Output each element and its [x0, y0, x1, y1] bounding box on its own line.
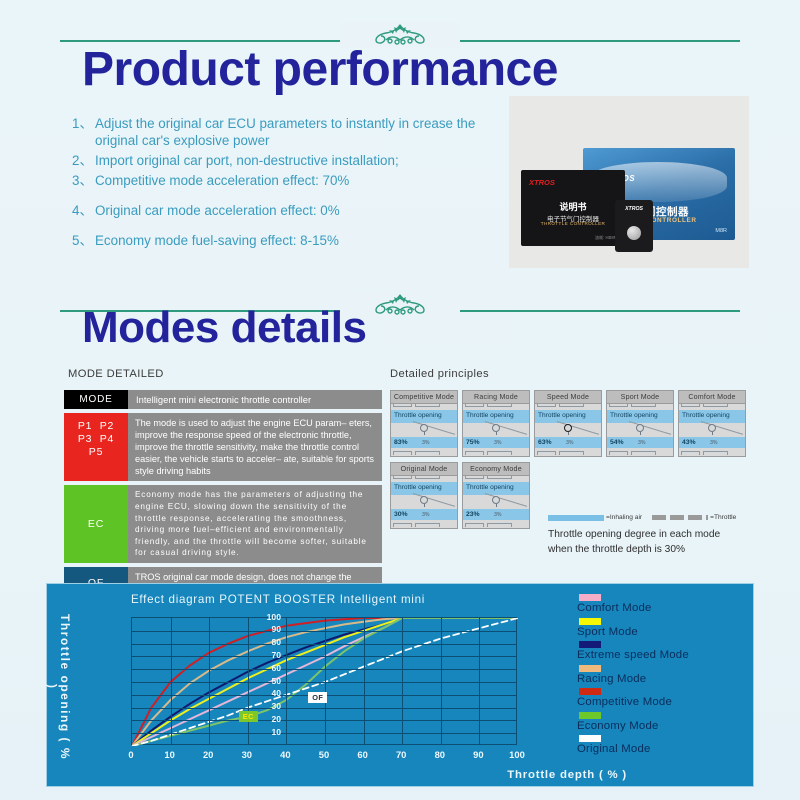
list-item-label: Adjust the original car ECU parameters t… [95, 115, 502, 149]
gridline-horizontal [132, 644, 516, 645]
y-tick-label: 70 [253, 650, 281, 660]
y-tick-label: 10 [253, 727, 281, 737]
y-tick-label: 30 [253, 701, 281, 711]
list-item: 5、 Economy mode fuel-saving effect: 8-15… [72, 232, 502, 249]
manual-cn-title: 说明书 [521, 200, 625, 213]
x-tick-label: 80 [428, 749, 452, 760]
mode-principle-card: Economy ModeThrottle opening23%3% [462, 462, 530, 529]
list-item-number: 1、 [72, 115, 95, 149]
device-knob-icon [627, 226, 641, 240]
gridline-horizontal [132, 669, 516, 670]
legend-item: Economy Mode [577, 712, 689, 732]
card-top-brackets-icon [609, 403, 671, 408]
gridline-vertical [171, 618, 172, 744]
legend-swatch [579, 665, 601, 672]
manual-en-title: THROTTLE CONTROLLER [521, 221, 625, 226]
y-tick-label: 40 [253, 688, 281, 698]
card-diagram: Throttle opening75%3% [462, 403, 530, 457]
card-diagram: Throttle opening54%3% [606, 403, 674, 457]
x-tick-label: 20 [196, 749, 220, 760]
card-top-brackets-icon [393, 475, 455, 480]
card-bottom-brackets-icon [609, 450, 671, 455]
legend-item: Original Mode [577, 735, 689, 755]
legend-swatch [579, 618, 601, 625]
x-tick-label: 60 [351, 749, 375, 760]
throttle-swatch [652, 515, 708, 520]
list-item-number: 2、 [72, 152, 95, 169]
gridline-horizontal [132, 708, 516, 709]
chart-x-axis-label: Throttle depth ( % ) [507, 769, 627, 781]
chart-title: Effect diagram POTENT BOOSTER Intelligen… [131, 593, 425, 606]
card-diagram: Throttle opening43%3% [678, 403, 746, 457]
card-bottom-brackets-icon [465, 450, 527, 455]
list-item-label: Competitive mode acceleration effect: 70… [95, 172, 502, 189]
mode-card-row-1: Competitive ModeThrottle opening83%3%Rac… [390, 390, 746, 457]
performance-list: 1、 Adjust the original car ECU parameter… [72, 115, 502, 252]
chart-plot-area [131, 617, 517, 745]
gridline-vertical [248, 618, 249, 744]
infographic-page: Product performance 1、 Adjust the origin… [0, 0, 800, 800]
throttle-label: =Throttle [710, 514, 736, 521]
x-tick-label: 10 [158, 749, 182, 760]
card-pct-label: 43% [682, 439, 696, 446]
y-tick-label: 80 [253, 637, 281, 647]
card-depth-label: 3% [638, 440, 646, 446]
list-item: 4、 Original car mode acceleration effect… [72, 202, 502, 219]
gridline-vertical [325, 618, 326, 744]
card-band-label: Throttle opening [466, 412, 514, 419]
gridline-vertical [402, 618, 403, 744]
row-value: Intelligent mini electronic throttle con… [128, 390, 382, 409]
legend-item: Extreme speed Mode [577, 641, 689, 661]
card-depth-label: 3% [422, 440, 430, 446]
chart-legend: Comfort ModeSport ModeExtreme speed Mode… [577, 594, 689, 759]
legend-label: Extreme speed Mode [577, 649, 689, 661]
list-item: 3、 Competitive mode acceleration effect:… [72, 172, 502, 189]
card-knob-icon [564, 424, 572, 432]
x-tick-label: 70 [389, 749, 413, 760]
legend-label: Sport Mode [577, 626, 689, 638]
card-band-label: Throttle opening [394, 412, 442, 419]
effect-diagram-chart: Effect diagram POTENT BOOSTER Intelligen… [46, 583, 754, 787]
gridline-vertical [364, 618, 365, 744]
detailed-principles-label: Detailed principles [390, 368, 489, 380]
card-pct-label: 54% [610, 439, 624, 446]
row-key-mode: MODE [64, 390, 128, 409]
gridline-horizontal [132, 631, 516, 632]
gridline-vertical [209, 618, 210, 744]
card-knob-icon [492, 424, 500, 432]
card-top-brackets-icon [465, 403, 527, 408]
y-tick-label: 90 [253, 624, 281, 634]
legend-swatch [579, 641, 601, 648]
y-tick-label: 50 [253, 676, 281, 686]
card-air-band: Throttle opening [391, 482, 457, 495]
card-depth-label: 3% [422, 512, 430, 518]
card-pct-label: 63% [538, 439, 552, 446]
card-knob-icon [420, 424, 428, 432]
x-tick-label: 30 [235, 749, 259, 760]
list-item-label: Import original car port, non-destructiv… [95, 152, 502, 169]
card-depth-label: 3% [494, 440, 502, 446]
card-title: Competitive Mode [390, 390, 458, 403]
card-depth-label: 3% [710, 440, 718, 446]
list-item-label: Original car mode acceleration effect: 0… [95, 202, 502, 219]
y-tick-label: 60 [253, 663, 281, 673]
legend-label: Original Mode [577, 743, 689, 755]
card-top-brackets-icon [537, 403, 599, 408]
card-diagram: Throttle opening30%3% [390, 475, 458, 529]
product-photo: XTROS 电子节气门控制器 THROTTLE CONTROLLER M8R X… [509, 96, 749, 268]
card-knob-icon [420, 496, 428, 504]
mode-principle-card: Racing ModeThrottle opening75%3% [462, 390, 530, 457]
card-pct-label: 30% [394, 511, 408, 518]
row-value: The mode is used to adjust the engine EC… [128, 413, 382, 481]
inhaling-air-label: =Inhaling air [606, 514, 642, 521]
legend-swatch [579, 712, 601, 719]
manual-brand-label: XTROS [529, 178, 555, 187]
mode-principle-card: Speed ModeThrottle opening63%3% [534, 390, 602, 457]
legend-label: Economy Mode [577, 720, 689, 732]
row-value: Economy mode has the parameters of adjus… [128, 485, 382, 563]
legend-label: Competitive Mode [577, 696, 689, 708]
gridline-vertical [479, 618, 480, 744]
legend-item: Comfort Mode [577, 594, 689, 614]
x-tick-label: 0 [119, 749, 143, 760]
legend-label: Racing Mode [577, 673, 689, 685]
x-tick-label: 90 [466, 749, 490, 760]
gridline-vertical [286, 618, 287, 744]
legend-label: Comfort Mode [577, 602, 689, 614]
legend-caption-line2: when the throttle depth is 30% [548, 542, 748, 557]
card-pct-label: 75% [466, 439, 480, 446]
gridline-horizontal [132, 656, 516, 657]
card-title: Original Mode [390, 462, 458, 475]
legend-swatch [579, 688, 601, 695]
legend-swatch [579, 735, 601, 742]
legend-item: Sport Mode [577, 618, 689, 638]
product-manual: XTROS 说明书 电子节气门控制器 THROTTLE CONTROLLER 油… [521, 170, 625, 246]
card-bottom-brackets-icon [537, 450, 599, 455]
card-knob-icon [708, 424, 716, 432]
box-model-label: M8R [715, 228, 727, 234]
mode-principle-card: Original ModeThrottle opening30%3% [390, 462, 458, 529]
card-bottom-brackets-icon [393, 450, 455, 455]
gridline-vertical [441, 618, 442, 744]
table-row: MODE Intelligent mini electronic throttl… [64, 390, 382, 409]
card-top-brackets-icon [681, 403, 743, 408]
page-title-product-performance: Product performance [82, 42, 558, 97]
card-top-brackets-icon [393, 403, 455, 408]
y-tick-label: 100 [253, 612, 281, 622]
legend-item: Racing Mode [577, 665, 689, 685]
list-item: 2、 Import original car port, non-destruc… [72, 152, 502, 169]
inhaling-air-swatch [548, 515, 604, 521]
card-title: Racing Mode [462, 390, 530, 403]
card-depth-label: 3% [494, 512, 502, 518]
gridline-horizontal [132, 682, 516, 683]
card-band-label: Throttle opening [394, 484, 442, 491]
card-top-brackets-icon [465, 475, 527, 480]
legend-caption-line1: Throttle opening degree in each mode [548, 527, 748, 542]
card-bottom-brackets-icon [681, 450, 743, 455]
list-item-number: 5、 [72, 232, 95, 249]
list-item-label: Economy mode fuel-saving effect: 8-15% [95, 232, 502, 249]
list-item-number: 3、 [72, 172, 95, 189]
detailed-principles-panel: Competitive ModeThrottle opening83%3%Rac… [390, 390, 746, 529]
row-key-ec: EC [64, 485, 128, 563]
card-diagram: Throttle opening63%3% [534, 403, 602, 457]
list-item-number: 4、 [72, 202, 95, 219]
x-tick-label: 40 [273, 749, 297, 760]
x-tick-label: 100 [505, 749, 529, 760]
card-depth-label: 3% [566, 440, 574, 446]
mode-principle-card: Sport ModeThrottle opening54%3% [606, 390, 674, 457]
principles-legend: =Inhaling air =Throttle Throttle opening… [548, 514, 748, 557]
card-band-label: Throttle opening [466, 484, 514, 491]
chart-annotation-ec: EC [239, 711, 258, 722]
card-pct-label: 23% [466, 511, 480, 518]
mode-principle-card: Comfort ModeThrottle opening43%3% [678, 390, 746, 457]
card-knob-icon [492, 496, 500, 504]
mode-detailed-label: MODE DETAILED [68, 368, 164, 380]
card-air-band: Throttle opening [463, 410, 529, 423]
row-key-p-modes: P1 P2P3 P4P5 [64, 413, 128, 481]
page-title-modes-details: Modes details [82, 303, 366, 353]
table-row: EC Economy mode has the parameters of ad… [64, 485, 382, 563]
card-band-label: Throttle opening [538, 412, 586, 419]
legend-swatch [579, 594, 601, 601]
card-title: Speed Mode [534, 390, 602, 403]
card-air-band: Throttle opening [463, 482, 529, 495]
card-diagram: Throttle opening23%3% [462, 475, 530, 529]
card-air-band: Throttle opening [535, 410, 601, 423]
card-bottom-brackets-icon [393, 522, 455, 527]
chart-annotation-of: OF [308, 692, 327, 703]
list-item: 1、 Adjust the original car ECU parameter… [72, 115, 502, 149]
card-title: Economy Mode [462, 462, 530, 475]
x-tick-label: 50 [312, 749, 336, 760]
gridline-horizontal [132, 733, 516, 734]
card-air-band: Throttle opening [391, 410, 457, 423]
card-air-band: Throttle opening [679, 410, 745, 423]
card-knob-icon [636, 424, 644, 432]
legend-item: Competitive Mode [577, 688, 689, 708]
product-controller-device: XTROS [615, 200, 653, 252]
card-title: Comfort Mode [678, 390, 746, 403]
card-title: Sport Mode [606, 390, 674, 403]
card-air-band: Throttle opening [607, 410, 673, 423]
card-band-label: Throttle opening [682, 412, 730, 419]
mode-detail-table: MODE Intelligent mini electronic throttl… [64, 390, 382, 603]
device-brand-label: XTROS [615, 206, 653, 212]
card-pct-label: 83% [394, 439, 408, 446]
gridline-horizontal [132, 720, 516, 721]
card-bottom-brackets-icon [465, 522, 527, 527]
chart-y-axis-label: Throttle opening ( % ) [55, 612, 71, 762]
table-row: P1 P2P3 P4P5 The mode is used to adjust … [64, 413, 382, 481]
card-diagram: Throttle opening83%3% [390, 403, 458, 457]
mode-principle-card: Competitive ModeThrottle opening83%3% [390, 390, 458, 457]
card-band-label: Throttle opening [610, 412, 658, 419]
